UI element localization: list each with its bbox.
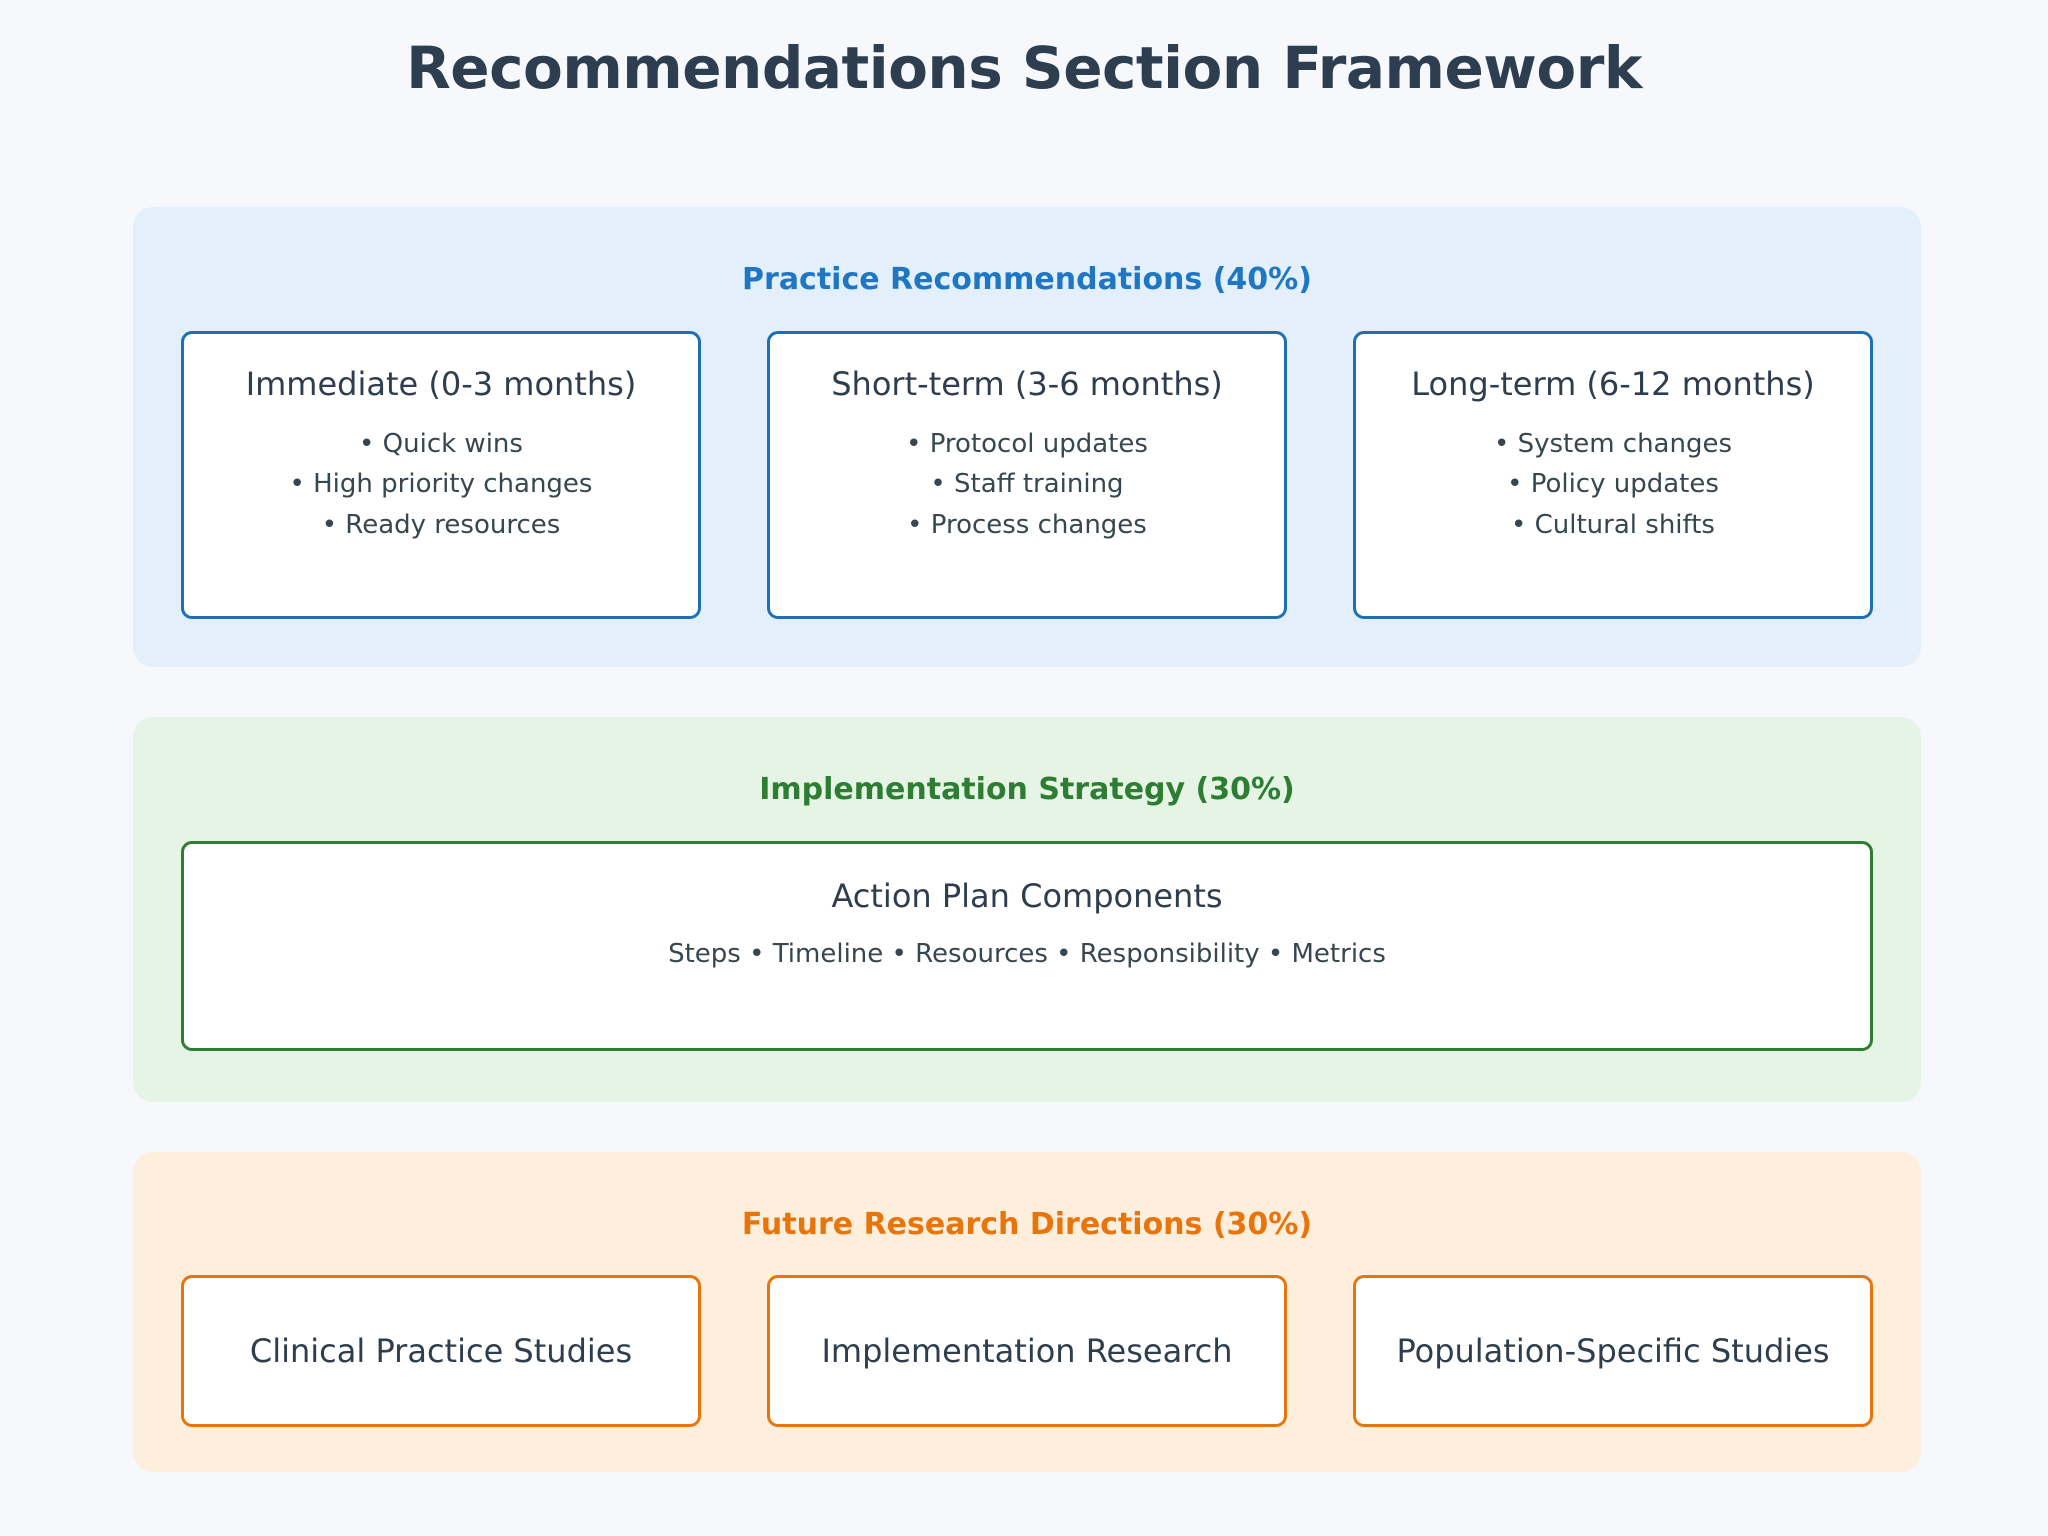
card-population-specific-studies-title: Population-Specific Studies [1396,1331,1829,1371]
section-research-heading: Future Research Directions (30%) [133,1205,1921,1244]
card-immediate[interactable]: Immediate (0-3 months) • Quick wins • Hi… [181,331,701,619]
section-practice-recommendations: Practice Recommendations (40%) Immediate… [133,207,1921,667]
card-long-term-title: Long-term (6-12 months) [1411,364,1814,404]
card-immediate-title: Immediate (0-3 months) [246,364,637,404]
bullet-item: • Policy updates [1494,464,1732,504]
bullet-item: • Quick wins [290,424,593,464]
card-short-term[interactable]: Short-term (3-6 months) • Protocol updat… [767,331,1287,619]
card-implementation-research[interactable]: Implementation Research [767,1275,1287,1427]
bullet-item: • Protocol updates [906,424,1148,464]
section-future-research-directions: Future Research Directions (30%) Clinica… [133,1152,1921,1472]
bullet-item: • High priority changes [290,464,593,504]
card-clinical-practice-studies[interactable]: Clinical Practice Studies [181,1275,701,1427]
practice-card-row: Immediate (0-3 months) • Quick wins • Hi… [181,331,1873,619]
card-short-term-title: Short-term (3-6 months) [831,364,1223,404]
section-strategy-heading: Implementation Strategy (30%) [133,770,1921,809]
card-long-term-bullets: • System changes • Policy updates • Cult… [1494,424,1732,545]
card-population-specific-studies[interactable]: Population-Specific Studies [1353,1275,1873,1427]
bullet-item: • Process changes [906,505,1148,545]
section-implementation-strategy: Implementation Strategy (30%) Action Pla… [133,717,1921,1102]
card-immediate-bullets: • Quick wins • High priority changes • R… [290,424,593,545]
card-clinical-practice-studies-title: Clinical Practice Studies [250,1331,632,1371]
card-implementation-research-title: Implementation Research [821,1331,1232,1371]
action-plan-subtitle: Steps • Timeline • Resources • Responsib… [184,936,1870,972]
bullet-item: • System changes [1494,424,1732,464]
card-long-term[interactable]: Long-term (6-12 months) • System changes… [1353,331,1873,619]
action-plan-title: Action Plan Components [184,876,1870,916]
card-short-term-bullets: • Protocol updates • Staff training • Pr… [906,424,1148,545]
page-title: Recommendations Section Framework [0,34,2048,104]
bullet-item: • Staff training [906,464,1148,504]
card-action-plan-components[interactable]: Action Plan Components Steps • Timeline … [181,841,1873,1051]
framework-diagram: Recommendations Section Framework Practi… [0,0,2048,1536]
bullet-item: • Ready resources [290,505,593,545]
section-practice-heading: Practice Recommendations (40%) [133,260,1921,299]
research-card-row: Clinical Practice Studies Implementation… [181,1275,1873,1427]
bullet-item: • Cultural shifts [1494,505,1732,545]
